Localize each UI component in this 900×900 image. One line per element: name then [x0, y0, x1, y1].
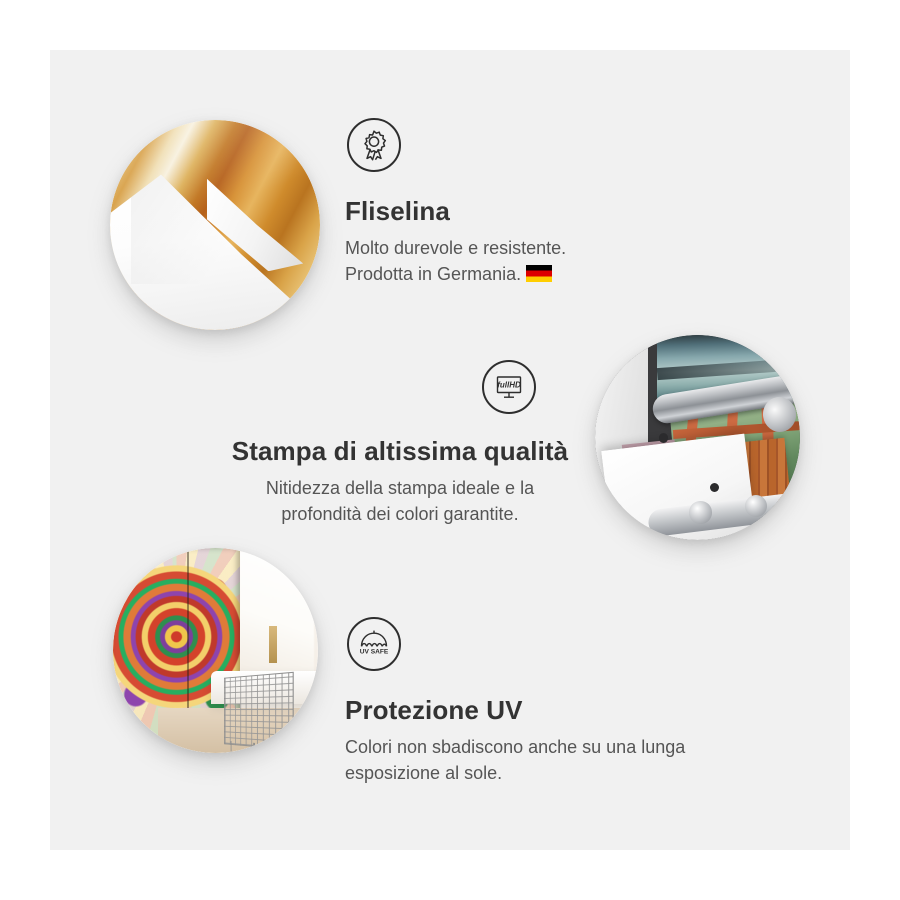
- feature-description: Nitidezza della stampa ideale e la profo…: [200, 475, 600, 527]
- mandala-wallpaper-interior-photo: [113, 548, 318, 753]
- feature-description-line: Molto durevole e resistente.: [345, 235, 566, 261]
- feature-title: Fliselina: [345, 196, 566, 227]
- printer-fastener: [659, 433, 668, 442]
- uv-safe-icon-label: UV SAFE: [360, 649, 389, 656]
- fullhd-icon-label: fullHD: [497, 381, 521, 390]
- printer-knob: [689, 501, 712, 524]
- feature-title: Protezione UV: [345, 695, 685, 726]
- printer-fastener: [710, 483, 719, 492]
- feature-block-uv-protection: UV SAFE Protezione UV Colori non sbadisc…: [345, 617, 685, 786]
- fullhd-monitor-icon: fullHD: [482, 360, 536, 414]
- feature-description-text: Prodotta in Germania.: [345, 264, 521, 284]
- feature-description-line: Colori non sbadiscono anche su una lunga: [345, 734, 685, 760]
- feature-description-line: esposizione al sole.: [345, 760, 685, 786]
- feature-description-line-with-flag: Prodotta in Germania.: [345, 261, 566, 287]
- germany-flag-icon: [526, 265, 552, 282]
- peeling-wallpaper-corner-photo: [110, 120, 320, 330]
- candle-holder: [269, 626, 277, 663]
- uv-safe-umbrella-icon: UV SAFE: [347, 617, 401, 671]
- feature-description-line: Nitidezza della stampa ideale e la: [200, 475, 600, 501]
- feature-block-print-quality: fullHD Stampa di altissima qualità Nitid…: [200, 360, 600, 527]
- award-ribbon-icon: [347, 118, 401, 172]
- wire-chair: [224, 672, 293, 750]
- feature-description-line: profondità dei colori garantite.: [200, 501, 600, 527]
- feature-block-fliselina: Fliselina Molto durevole e resistente. P…: [345, 118, 566, 287]
- feature-title: Stampa di altissima qualità: [200, 436, 600, 467]
- feature-infographic-page: Fliselina Molto durevole e resistente. P…: [0, 0, 900, 900]
- feature-description: Colori non sbadiscono anche su una lunga…: [345, 734, 685, 786]
- wide-format-printer-photo: [595, 335, 800, 540]
- window-light: [240, 552, 314, 675]
- content-panel: Fliselina Molto durevole e resistente. P…: [50, 50, 850, 850]
- feature-description: Molto durevole e resistente. Prodotta in…: [345, 235, 566, 287]
